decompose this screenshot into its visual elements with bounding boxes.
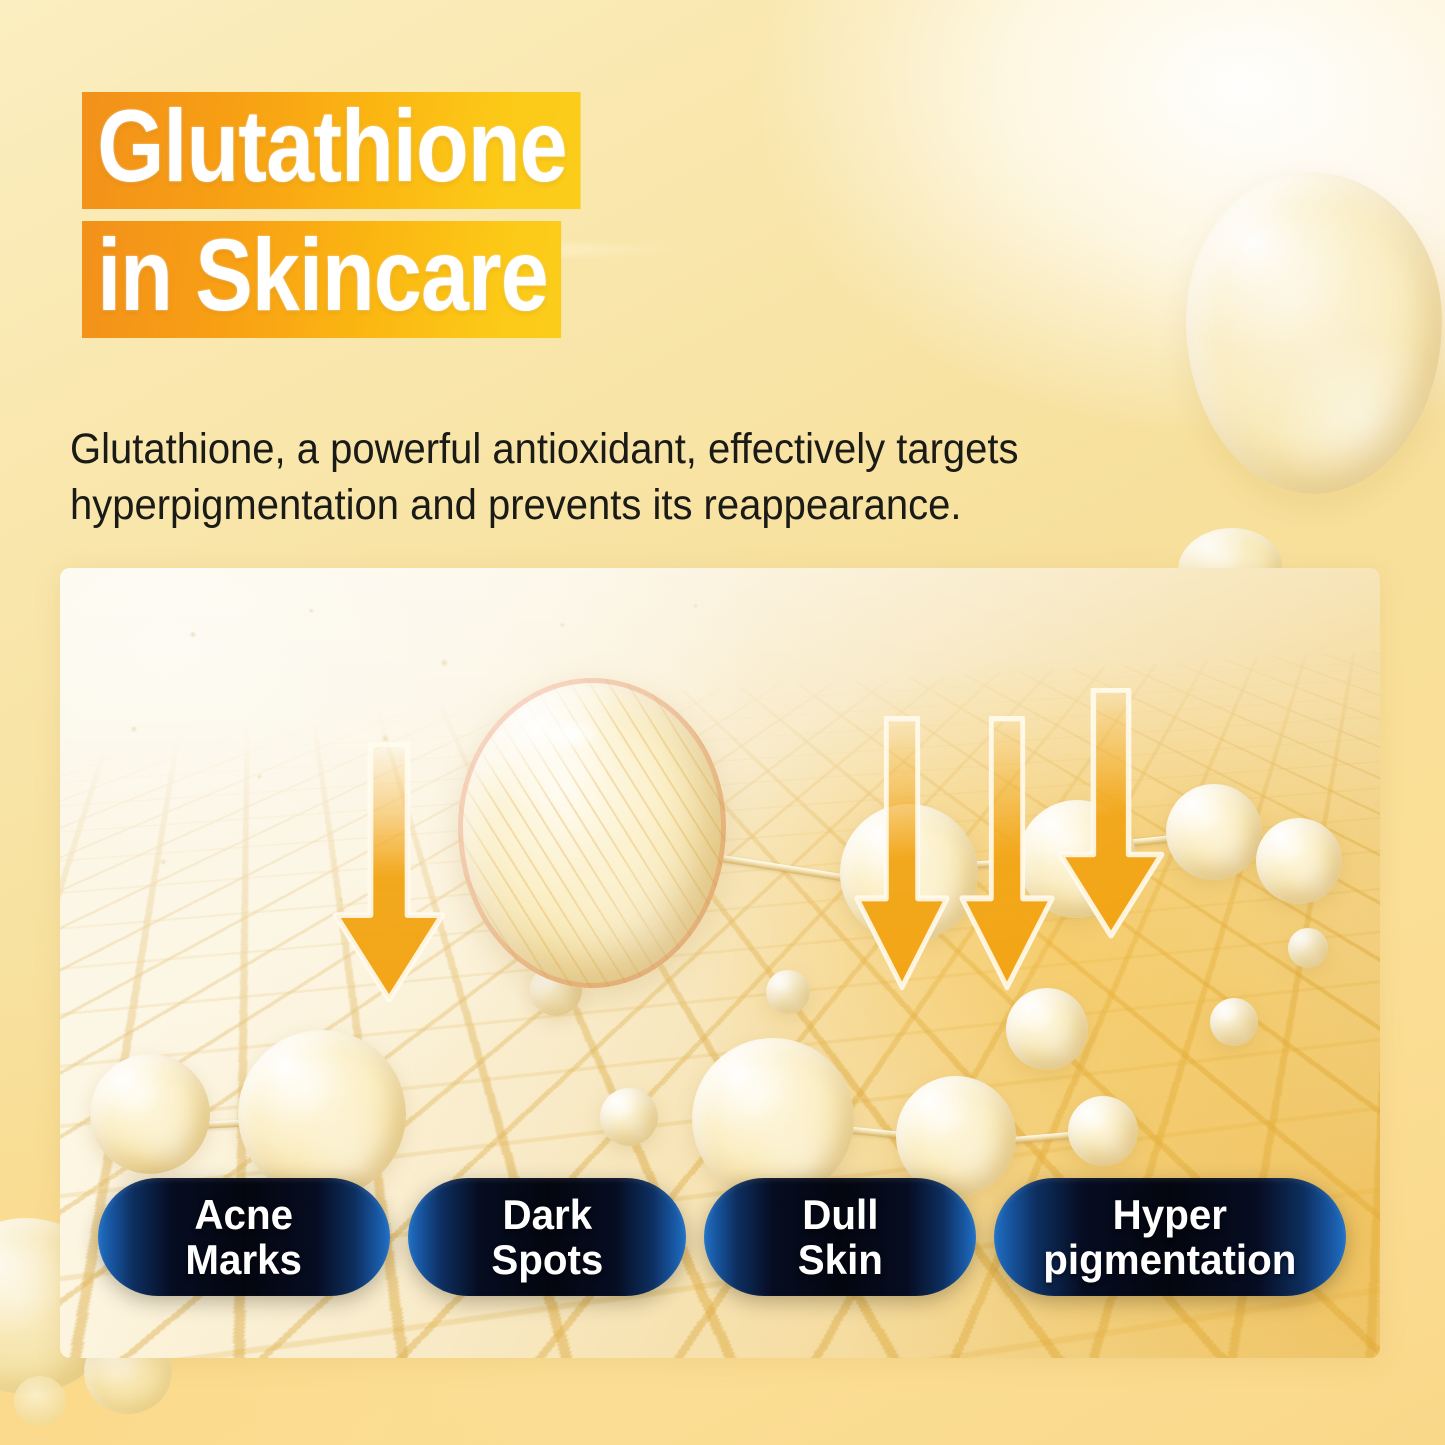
pill-hyperpigmentation-label: Hyper pigmentation: [1043, 1192, 1296, 1283]
pill-dull-skin-label: Dull Skin: [797, 1192, 882, 1283]
arrow-right-1-icon: [853, 716, 951, 992]
molecule-sphere-15: [1288, 928, 1328, 968]
pill-hyperpigmentation[interactable]: Hyper pigmentation: [994, 1178, 1346, 1296]
headline-line-1: Glutathione: [82, 92, 580, 209]
molecule-sphere-6: [238, 1030, 406, 1198]
arrow-left-icon: [331, 742, 447, 1004]
molecule-sphere-3: [1166, 784, 1262, 880]
headline-line-2: in Skincare: [82, 221, 561, 338]
pill-acne-marks[interactable]: Acne Marks: [98, 1178, 390, 1296]
molecule-sphere-10: [1068, 1096, 1138, 1166]
pill-dark-spots[interactable]: Dark Spots: [408, 1178, 686, 1296]
pill-dull-skin[interactable]: Dull Skin: [704, 1178, 976, 1296]
benefit-pill-list: Acne Marks Dark Spots Dull Skin Hyper pi…: [98, 1178, 1346, 1296]
headline-block: Glutathione in Skincare: [82, 92, 672, 338]
hero-molecule-sphere: [458, 678, 726, 988]
molecule-sphere-4: [1256, 818, 1342, 904]
pill-acne-marks-label: Acne Marks: [186, 1192, 303, 1283]
pill-dark-spots-label: Dark Spots: [491, 1192, 603, 1283]
molecule-sphere-9: [1006, 988, 1088, 1070]
arrow-right-3-icon: [1056, 688, 1166, 940]
molecule-sphere-12: [600, 1088, 658, 1146]
molecule-sphere-5: [90, 1054, 210, 1174]
molecule-sphere-14: [1210, 998, 1258, 1046]
molecule-sphere-13: [766, 970, 810, 1014]
molecule-sphere-7: [692, 1038, 854, 1200]
subtitle-text: Glutathione, a powerful antioxidant, eff…: [70, 422, 1167, 534]
arrow-right-2-icon: [958, 716, 1056, 992]
